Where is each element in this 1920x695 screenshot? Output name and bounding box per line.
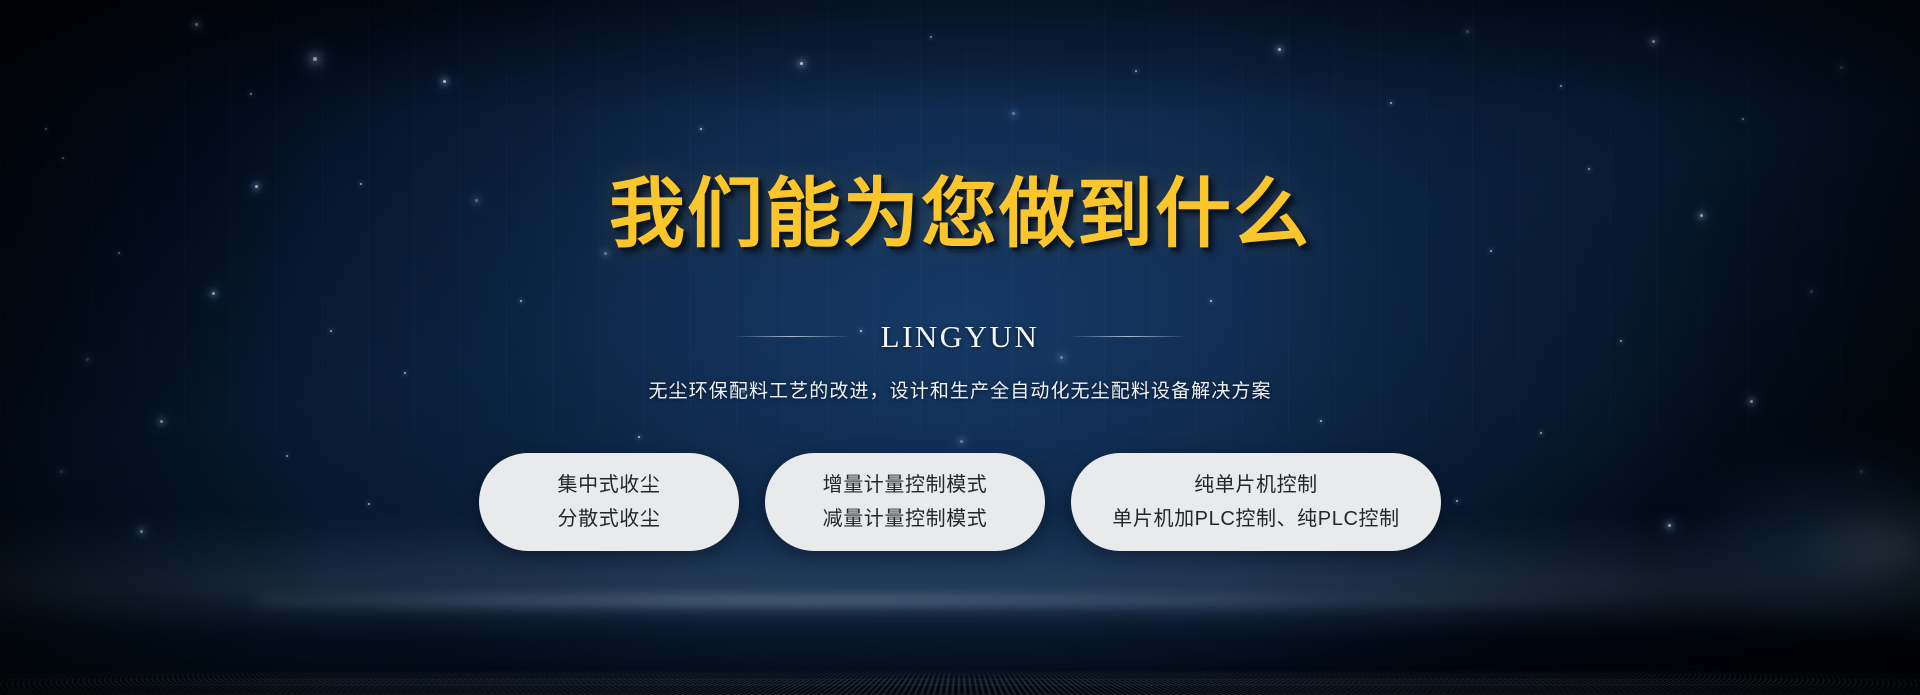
banner-content: 我们能为您做到什么 LINGYUN 无尘环保配料工艺的改进，设计和生产全自动化无… <box>0 0 1920 695</box>
feature-card-list: 集中式收尘 分散式收尘 增量计量控制模式 减量计量控制模式 纯单片机控制 单片机… <box>479 453 1441 551</box>
page-description: 无尘环保配料工艺的改进，设计和生产全自动化无尘配料设备解决方案 <box>648 376 1271 403</box>
brand-subtitle: LINGYUN <box>881 319 1040 355</box>
hero-banner: 我们能为您做到什么 LINGYUN 无尘环保配料工艺的改进，设计和生产全自动化无… <box>0 0 1920 695</box>
subtitle-row: LINGYUN <box>737 319 1184 355</box>
feature-card-metering-mode[interactable]: 增量计量控制模式 减量计量控制模式 <box>765 453 1045 551</box>
page-title: 我们能为您做到什么 <box>609 176 1311 252</box>
card-line-primary: 集中式收尘 <box>558 474 661 496</box>
card-line-secondary: 减量计量控制模式 <box>823 508 988 530</box>
divider-line-left <box>737 336 847 337</box>
divider-line-right <box>1073 336 1183 337</box>
feature-card-dust-collection[interactable]: 集中式收尘 分散式收尘 <box>479 453 739 551</box>
card-line-secondary: 分散式收尘 <box>558 508 661 530</box>
card-line-primary: 增量计量控制模式 <box>823 474 988 496</box>
card-line-primary: 纯单片机控制 <box>1194 474 1318 496</box>
card-line-secondary: 单片机加PLC控制、纯PLC控制 <box>1112 508 1399 530</box>
feature-card-control-system[interactable]: 纯单片机控制 单片机加PLC控制、纯PLC控制 <box>1071 453 1441 551</box>
